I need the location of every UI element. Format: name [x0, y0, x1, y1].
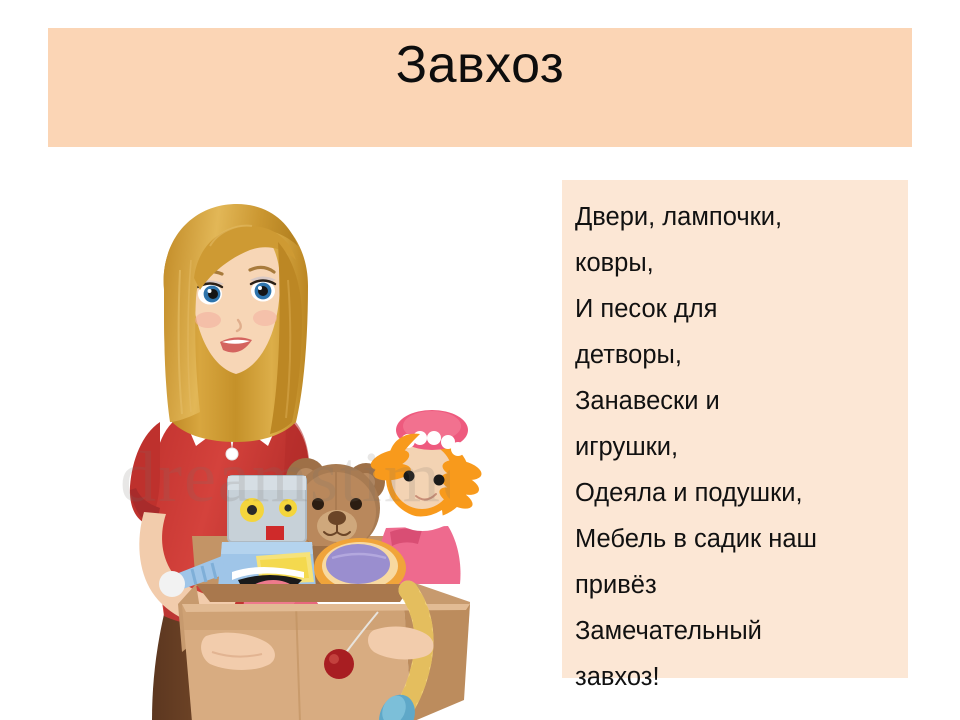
poem-line: детворы,: [575, 332, 898, 378]
robot-mouth: [266, 526, 284, 540]
title-banner: Завхоз: [48, 28, 912, 147]
poem-line: Двери, лампочки,: [575, 194, 898, 240]
poem-line: игрушки,: [575, 424, 898, 470]
cheek-blush-left: [195, 312, 221, 328]
eye-right: [251, 281, 275, 302]
poem-line: Мебель в садик наш: [575, 516, 898, 562]
poem-line: Занавески и: [575, 378, 898, 424]
poem-line: завхоз!: [575, 654, 898, 700]
poem-line: ковры,: [575, 240, 898, 286]
bear-eye-left: [312, 498, 324, 510]
bear-eye-right: [350, 498, 362, 510]
poem-line: привёз: [575, 562, 898, 608]
poem-line: И песок для: [575, 286, 898, 332]
poem-line: Одеяла и подушки,: [575, 470, 898, 516]
bear-nose: [328, 511, 346, 525]
poem-text-block: Двери, лампочки, ковры, И песок для детв…: [562, 180, 908, 678]
page-title: Завхоз: [396, 38, 565, 93]
poem-line: Замечательный: [575, 608, 898, 654]
cheek-blush-right: [253, 310, 277, 326]
doll-eye-left: [404, 471, 415, 482]
illustration-woman-with-toy-box: [60, 160, 540, 720]
doll-eye-right: [434, 475, 445, 486]
